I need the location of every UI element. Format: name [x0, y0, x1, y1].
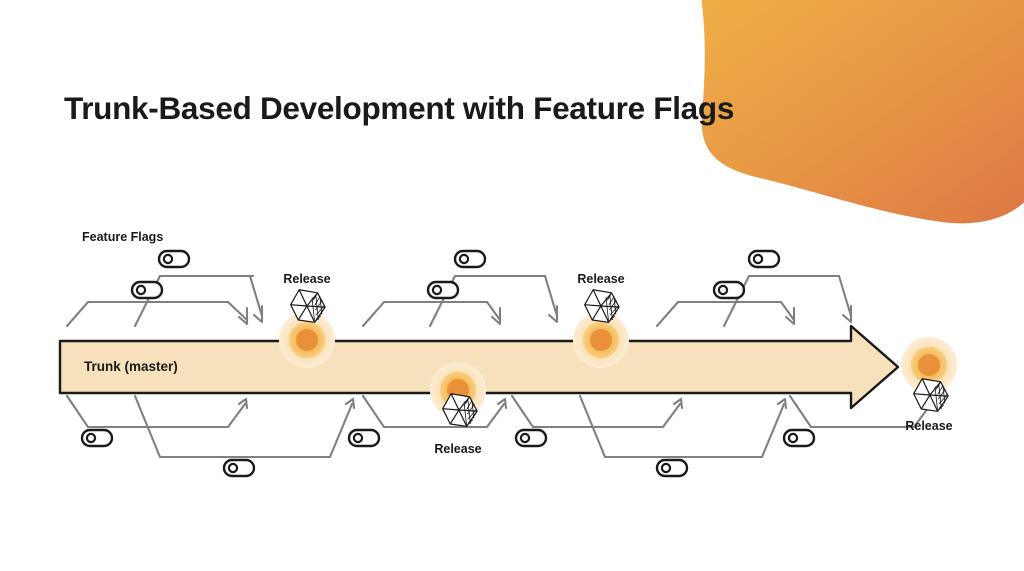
feature-flag-toggle[interactable]	[349, 430, 379, 446]
slide-canvas: Trunk-Based Development with Feature Fla…	[0, 0, 1024, 571]
release-label: Release	[283, 272, 330, 286]
feature-flag-toggle[interactable]	[749, 251, 779, 267]
feature-flags-label: Feature Flags	[82, 230, 163, 244]
feature-flag-toggle[interactable]	[159, 251, 189, 267]
feature-flag-toggle[interactable]	[714, 282, 744, 298]
release-label: Release	[434, 442, 481, 456]
release-marker[interactable]: Release	[279, 272, 335, 368]
release-marker[interactable]: Release	[901, 337, 957, 433]
release-label: Release	[577, 272, 624, 286]
feature-flag-toggle[interactable]	[82, 430, 112, 446]
feature-flag-toggle[interactable]	[657, 460, 687, 476]
release-marker[interactable]: Release	[430, 362, 486, 456]
feature-flag-toggle[interactable]	[455, 251, 485, 267]
feature-flag-toggle[interactable]	[784, 430, 814, 446]
upper-branch-arrowheads	[239, 306, 851, 324]
feature-flag-toggle[interactable]	[516, 430, 546, 446]
lower-branch-arrowheads	[239, 399, 933, 408]
lower-branches	[67, 396, 931, 457]
trunk-label: Trunk (master)	[84, 359, 178, 374]
page-title: Trunk-Based Development with Feature Fla…	[64, 90, 734, 127]
release-label: Release	[905, 419, 952, 433]
feature-flag-toggle[interactable]	[132, 282, 162, 298]
trunk-based-development-diagram: Release Release Release Release	[0, 0, 1024, 571]
feature-flag-toggle[interactable]	[428, 282, 458, 298]
feature-flag-toggle[interactable]	[224, 460, 254, 476]
release-marker[interactable]: Release	[573, 272, 629, 368]
